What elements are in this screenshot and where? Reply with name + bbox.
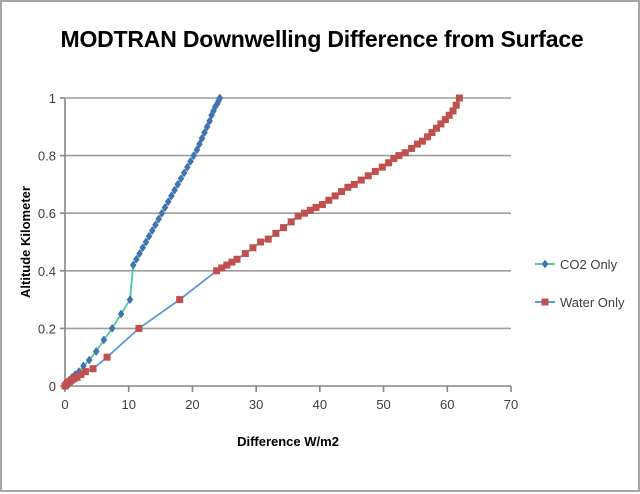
- x-tick-label: 70: [504, 397, 518, 412]
- data-point: [351, 181, 358, 188]
- y-axis-tick-labels: 00.20.40.60.81: [38, 91, 56, 394]
- data-point: [358, 177, 365, 184]
- x-tick-label: 40: [313, 397, 327, 412]
- data-point: [313, 204, 320, 211]
- y-tick-label: 0.4: [38, 264, 56, 279]
- series-line-0: [65, 98, 220, 386]
- data-point: [379, 164, 386, 171]
- legend-label-water-only: Water Only: [560, 295, 625, 310]
- tick-marks-group: [60, 98, 511, 392]
- data-point: [295, 213, 302, 220]
- data-point: [234, 256, 241, 263]
- x-tick-label: 0: [61, 397, 68, 412]
- data-point: [249, 244, 256, 251]
- x-tick-label: 30: [249, 397, 263, 412]
- legend-marker-co2-only: [542, 260, 549, 269]
- y-axis-title: Altitude Kilometer: [18, 186, 33, 298]
- data-point: [242, 250, 249, 257]
- data-point: [453, 102, 460, 109]
- data-point: [288, 218, 295, 225]
- x-axis-title: Difference W/m2: [237, 434, 339, 449]
- data-point: [82, 368, 89, 375]
- data-point: [176, 296, 183, 303]
- y-tick-label: 0.2: [38, 321, 56, 336]
- data-point: [338, 188, 345, 195]
- series-markers-group: [62, 94, 463, 391]
- data-point: [325, 197, 332, 204]
- data-point: [332, 192, 339, 199]
- legend-label-co2-only: CO2 Only: [560, 257, 618, 272]
- data-point: [456, 95, 463, 102]
- data-point: [257, 239, 264, 246]
- chart-legend: CO2 Only Water Only: [535, 257, 625, 310]
- data-point: [265, 236, 272, 243]
- x-tick-label: 60: [440, 397, 454, 412]
- y-tick-label: 0.6: [38, 206, 56, 221]
- data-point: [280, 224, 287, 231]
- x-tick-label: 10: [121, 397, 135, 412]
- y-tick-label: 1: [49, 91, 56, 106]
- legend-item-water-only[interactable]: Water Only: [535, 295, 625, 310]
- x-tick-label: 20: [185, 397, 199, 412]
- gridlines-group: [65, 98, 511, 328]
- x-axis-tick-labels: 010203040506070: [61, 397, 518, 412]
- chart-plot-area: 00.20.40.60.81 010203040506070 Differenc…: [2, 2, 640, 494]
- chart-container: MODTRAN Downwelling Difference from Surf…: [0, 0, 640, 492]
- y-tick-label: 0: [49, 379, 56, 394]
- legend-item-co2-only[interactable]: CO2 Only: [535, 257, 618, 272]
- data-point: [135, 325, 142, 332]
- data-point: [319, 201, 326, 208]
- data-point: [272, 230, 279, 237]
- x-tick-label: 50: [376, 397, 390, 412]
- data-point: [104, 354, 111, 361]
- data-point: [365, 172, 372, 179]
- legend-marker-water-only: [542, 299, 549, 306]
- data-point: [402, 149, 409, 156]
- data-point: [90, 365, 97, 372]
- axes-group: [65, 98, 511, 386]
- data-point: [344, 184, 351, 191]
- y-tick-label: 0.8: [38, 149, 56, 164]
- data-point: [395, 152, 402, 159]
- data-point: [372, 168, 379, 175]
